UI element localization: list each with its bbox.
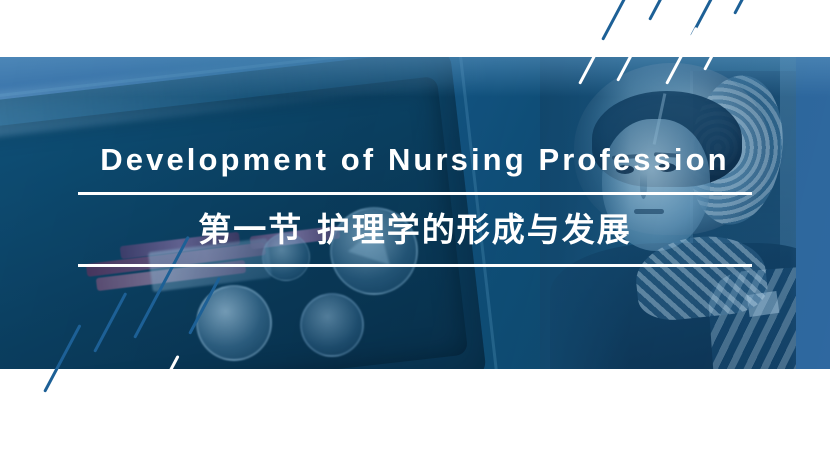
diagonal-bottom-left-highlight	[62, 385, 78, 412]
title-divider-bottom	[78, 264, 752, 267]
diagonal-top-right	[648, 0, 683, 21]
slide-canvas: Development of Nursing Profession 第一节 护理…	[0, 0, 830, 470]
page-title-chinese: 第一节 护理学的形成与发展	[0, 204, 830, 256]
page-title-english: Development of Nursing Profession	[0, 138, 830, 182]
diagonal-bottom-left-highlight	[79, 410, 97, 441]
diagonal-top-right	[601, 0, 627, 41]
title-divider-top	[78, 192, 752, 195]
diagonal-top-right	[733, 0, 765, 15]
